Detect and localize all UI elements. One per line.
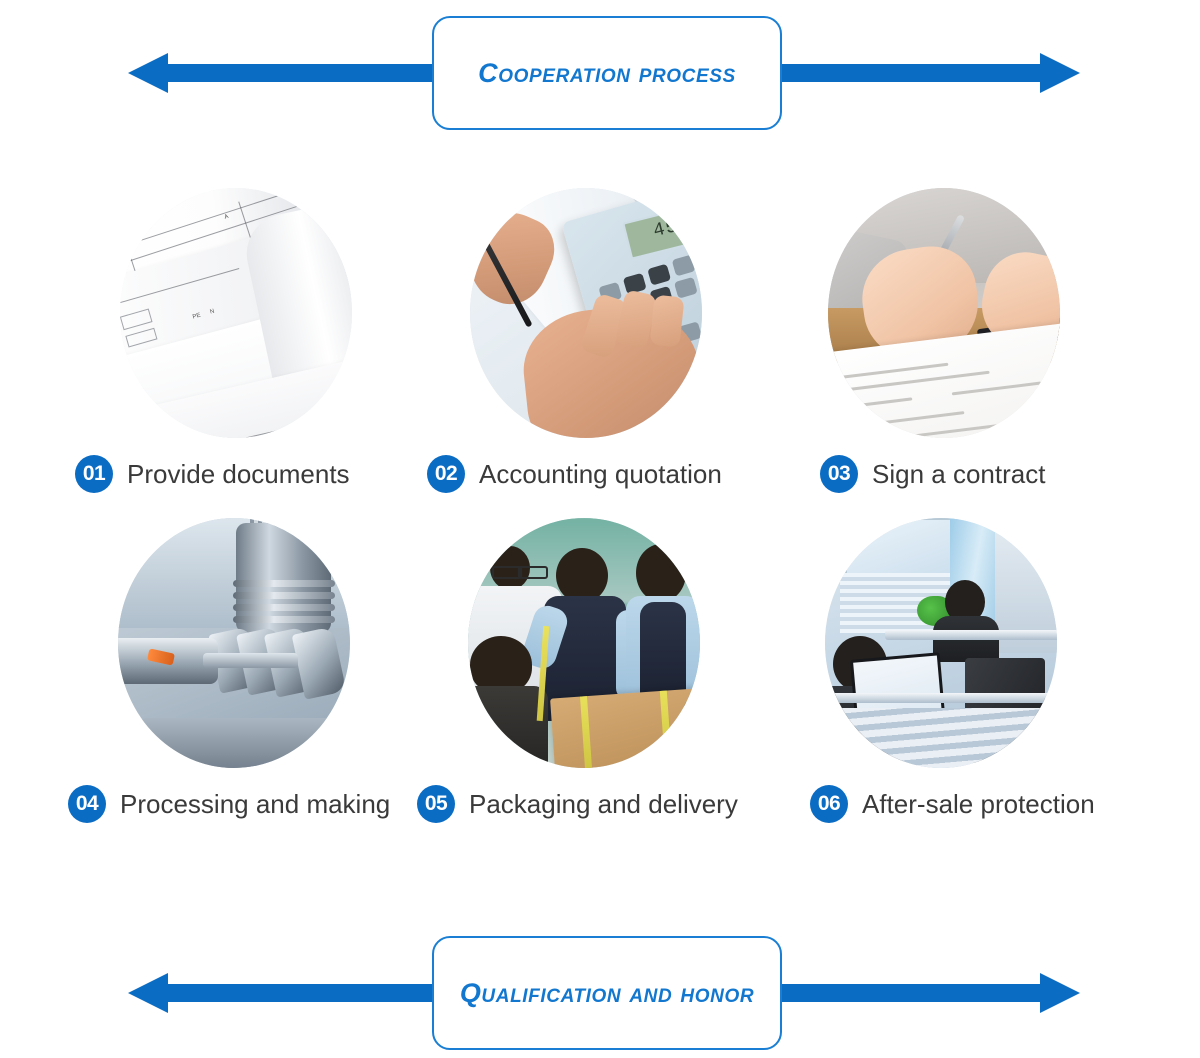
- packaging-delivery-photo: [468, 518, 700, 768]
- process-steps-row-1: A PE N: [0, 180, 1200, 510]
- process-step-02-caption: 02 Accounting quotation: [427, 455, 722, 493]
- step-label: Processing and making: [120, 789, 390, 820]
- rolled-blueprints-photo: A PE N: [120, 188, 352, 438]
- cooperation-process-banner: Cooperation process: [0, 8, 1200, 138]
- process-step-03[interactable]: 03 Sign a contract: [710, 180, 1110, 510]
- process-step-04-caption: 04 Processing and making: [68, 785, 390, 823]
- process-step-02[interactable]: 4545: [355, 180, 755, 510]
- process-steps-grid: A PE N: [0, 180, 1200, 840]
- step-label: Sign a contract: [872, 459, 1045, 490]
- signing-contract-photo: [828, 188, 1060, 438]
- process-step-03-caption: 03 Sign a contract: [820, 455, 1045, 493]
- step-label: Packaging and delivery: [469, 789, 738, 820]
- step-number-badge: 04: [68, 785, 106, 823]
- step-number-badge: 05: [417, 785, 455, 823]
- process-step-01-caption: 01 Provide documents: [75, 455, 350, 493]
- process-step-06-caption: 06 After-sale protection: [810, 785, 1095, 823]
- process-step-01[interactable]: A PE N: [0, 180, 400, 510]
- qualification-and-honor-banner: Qualification and honor: [0, 928, 1200, 1058]
- calculator-hands-photo: 4545: [470, 188, 702, 438]
- calculator-display: 4545: [651, 209, 702, 242]
- office-support-photo: [825, 518, 1057, 768]
- cnc-machining-photo: [118, 518, 350, 768]
- step-number-badge: 03: [820, 455, 858, 493]
- process-step-05[interactable]: 05 Packaging and delivery: [355, 510, 755, 840]
- step-number-badge: 01: [75, 455, 113, 493]
- step-label: Accounting quotation: [479, 459, 722, 490]
- process-step-04[interactable]: 04 Processing and making: [0, 510, 400, 840]
- qualification-and-honor-title-box: Qualification and honor: [432, 936, 782, 1050]
- step-number-badge: 02: [427, 455, 465, 493]
- cooperation-process-title-box: Cooperation process: [432, 16, 782, 130]
- step-label: After-sale protection: [862, 789, 1095, 820]
- qualification-and-honor-title: Qualification and honor: [460, 978, 754, 1009]
- step-label: Provide documents: [127, 459, 350, 490]
- step-number-badge: 06: [810, 785, 848, 823]
- cooperation-process-title: Cooperation process: [478, 58, 736, 89]
- process-step-05-caption: 05 Packaging and delivery: [417, 785, 738, 823]
- process-steps-row-2: 04 Processing and making: [0, 510, 1200, 840]
- process-step-06[interactable]: 06 After-sale protection: [710, 510, 1110, 840]
